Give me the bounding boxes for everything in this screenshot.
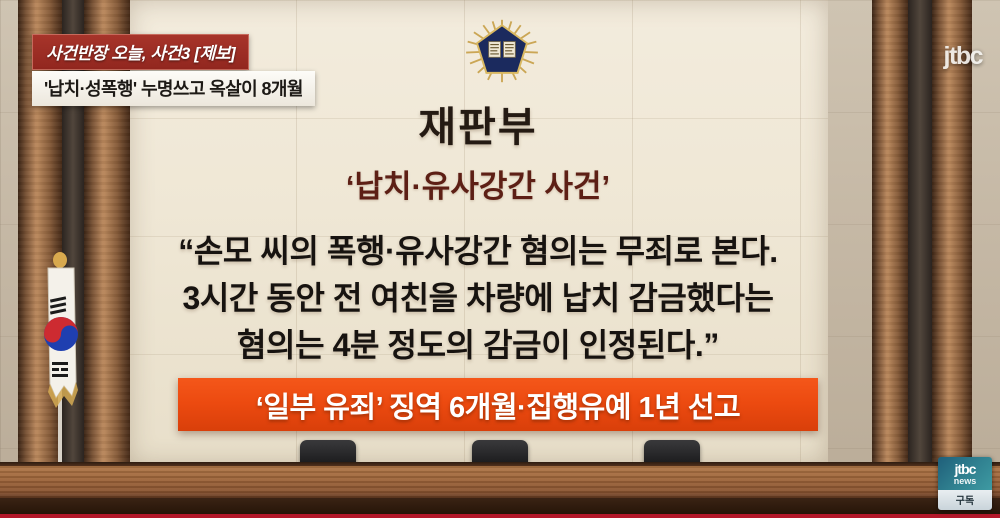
quote-line-3: 혐의는 4분 정도의 감금이 인정된다.”: [128, 322, 828, 369]
chyron-headline-line: '납치·성폭행' 누명쓰고 옥살이 8개월: [32, 71, 315, 106]
subscribe-badge[interactable]: jtbc news 구독: [938, 457, 992, 510]
bench-shadow-skirt: [0, 498, 1000, 514]
verdict-banner: ‘일부 유죄’ 징역 6개월·집행유예 1년 선고: [178, 378, 818, 431]
subscribe-badge-line1: jtbc: [938, 462, 992, 477]
subscribe-badge-logo: jtbc news: [938, 457, 992, 490]
chyron-program-line: 사건반장 오늘, 사건3 [제보]: [32, 34, 249, 70]
graphic-subheading: ‘납치·유사강간 사건’: [128, 161, 828, 206]
subscribe-badge-line2: news: [938, 477, 992, 486]
broadcast-screenshot: 재판부 ‘납치·유사강간 사건’ “손모 씨의 폭행·유사강간 혐의는 무죄로 …: [0, 0, 1000, 518]
verdict-banner-text: ‘일부 유죄’ 징역 6개월·집행유예 1년 선고: [256, 384, 740, 426]
quote-line-2: 3시간 동안 전 여친을 차량에 납치 감금했다는: [128, 275, 828, 322]
chyron: 사건반장 오늘, 사건3 [제보] '납치·성폭행' 누명쓰고 옥살이 8개월: [32, 34, 315, 106]
bottom-red-rule: [0, 514, 1000, 518]
quote-line-1: “손모 씨의 폭행·유사강간 혐의는 무죄로 본다.: [128, 228, 828, 275]
subscribe-badge-cta[interactable]: 구독: [938, 490, 992, 510]
verdict-quote: “손모 씨의 폭행·유사강간 혐의는 무죄로 본다. 3시간 동안 전 여친을 …: [128, 228, 828, 369]
jtbc-logo: jtbc: [944, 42, 982, 71]
